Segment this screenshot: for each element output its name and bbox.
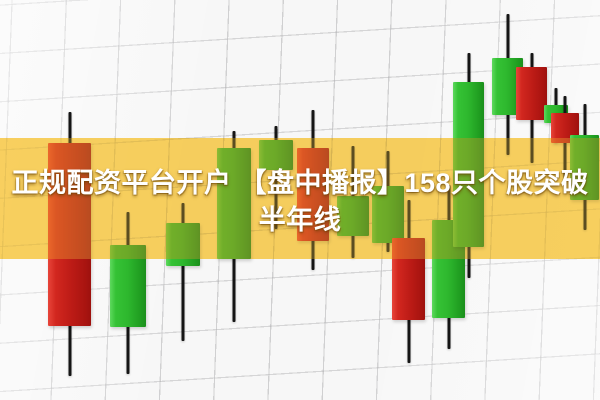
headline-line-1: 正规配资平台开户 【盘中播报】158只个股突破	[0, 166, 600, 200]
headline-line-2: 半年线	[0, 203, 600, 237]
candle-body-down	[516, 67, 547, 120]
banner-image: 正规配资平台开户 【盘中播报】158只个股突破 半年线	[0, 0, 600, 400]
